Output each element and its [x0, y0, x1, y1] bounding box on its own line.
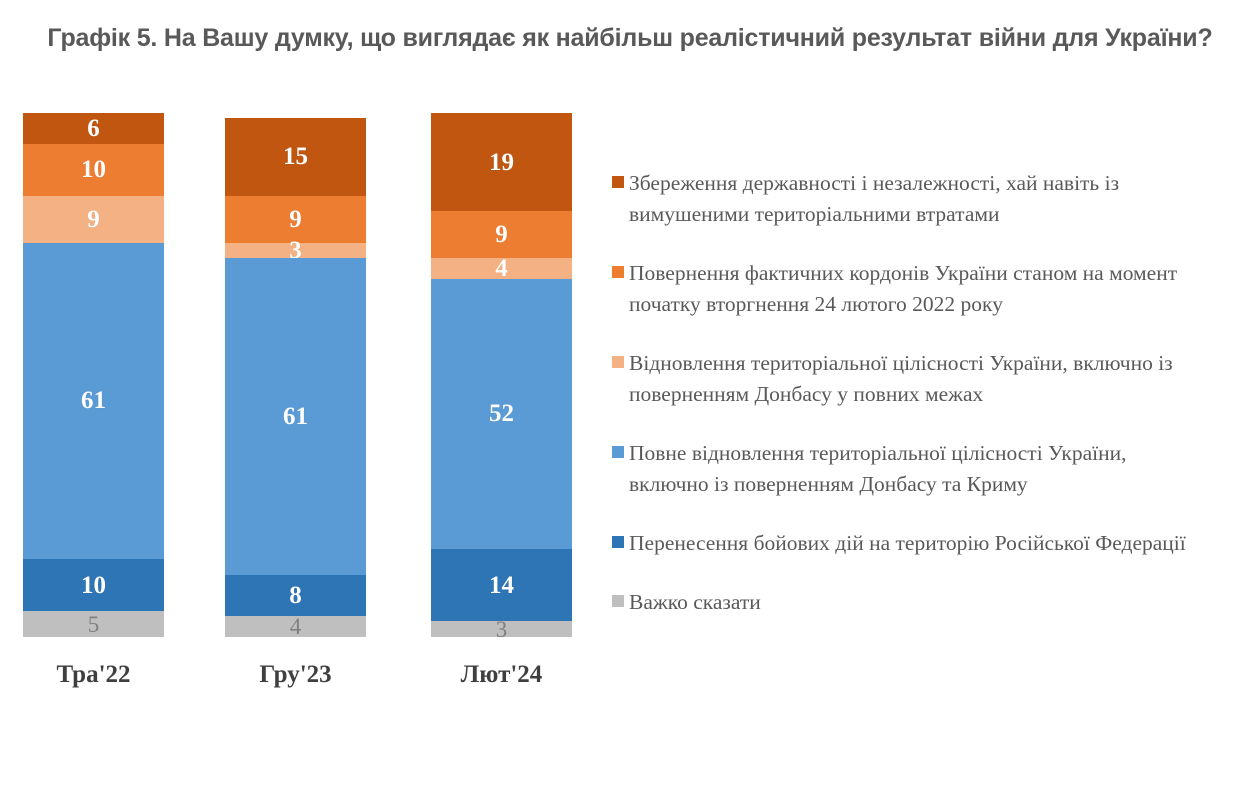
bar-segment: 9	[225, 196, 366, 243]
legend-item[interactable]: Збереження державності і незалежності, х…	[612, 168, 1232, 230]
bar-segment: 19	[431, 113, 572, 212]
bar-segment-value-label: 6	[87, 116, 100, 141]
legend-item-label: Перенесення бойових дій на територію Рос…	[629, 528, 1186, 559]
legend-swatch-icon	[612, 176, 624, 188]
stacked-bar-column: 610961105	[23, 113, 164, 637]
x-axis-tick-label: Лют'24	[431, 661, 572, 689]
chart-plot-area: 610961105 15936184 199452143 Тра'22 Гру'…	[0, 150, 600, 695]
bar-segment-value-label: 5	[88, 613, 100, 636]
bar-segment-value-label: 9	[87, 207, 100, 232]
legend-item[interactable]: Перенесення бойових дій на територію Рос…	[612, 528, 1232, 559]
legend-item-label: Повне відновлення територіальної цілісно…	[629, 438, 1204, 500]
legend-item[interactable]: Повне відновлення територіальної цілісно…	[612, 438, 1232, 500]
bar-segment: 9	[23, 196, 164, 243]
legend-item-label: Повернення фактичних кордонів України ст…	[629, 258, 1204, 320]
legend-swatch-icon	[612, 446, 624, 458]
legend-item[interactable]: Важко сказати	[612, 587, 1232, 618]
bar-segment: 61	[225, 258, 366, 575]
legend-item[interactable]: Повернення фактичних кордонів України ст…	[612, 258, 1232, 320]
bar-segment: 9	[431, 211, 572, 258]
bar-segment-value-label: 10	[81, 157, 106, 182]
bar-segment: 8	[225, 575, 366, 617]
bar-segment: 4	[431, 258, 572, 279]
bar-segment-value-label: 15	[283, 144, 308, 169]
bar-segment-value-label: 9	[495, 222, 508, 247]
bar-segment: 15	[225, 118, 366, 196]
bar-segment-value-label: 10	[81, 573, 106, 598]
stacked-bar-column: 199452143	[431, 113, 572, 637]
bar-segment-value-label: 4	[290, 615, 302, 638]
bar-segment-value-label: 61	[283, 404, 308, 429]
bar-segment: 4	[225, 616, 366, 637]
bar-segment: 10	[23, 144, 164, 196]
bar-segment-value-label: 19	[489, 150, 514, 175]
bar-segment: 5	[23, 611, 164, 637]
bar-segment-value-label: 8	[289, 583, 302, 608]
bar-segment: 14	[431, 549, 572, 622]
stacked-bar-column: 15936184	[225, 118, 366, 637]
legend-swatch-icon	[612, 536, 624, 548]
legend-swatch-icon	[612, 266, 624, 278]
legend-item[interactable]: Відновлення територіальної цілісності Ук…	[612, 348, 1232, 410]
page-title: Графік 5. На Вашу думку, що виглядає як …	[30, 20, 1230, 56]
legend-item-label: Важко сказати	[629, 587, 761, 618]
bar-segment-value-label: 4	[495, 256, 508, 281]
bar-segment-value-label: 9	[289, 207, 302, 232]
bar-segment: 6	[23, 113, 164, 144]
bar-segment: 52	[431, 279, 572, 549]
bar-segment: 10	[23, 559, 164, 611]
legend-swatch-icon	[612, 595, 624, 607]
legend-item-label: Відновлення територіальної цілісності Ук…	[629, 348, 1204, 410]
bar-segment: 3	[225, 243, 366, 259]
legend-swatch-icon	[612, 356, 624, 368]
x-axis-tick-label: Тра'22	[23, 661, 164, 689]
x-axis-tick-label: Гру'23	[225, 661, 366, 689]
bar-segment-value-label: 14	[489, 573, 514, 598]
bar-segment-value-label: 52	[489, 401, 514, 426]
bar-segment-value-label: 61	[81, 388, 106, 413]
bar-segment-value-label: 3	[496, 618, 508, 641]
bar-segment: 61	[23, 243, 164, 560]
legend-item-label: Збереження державності і незалежності, х…	[629, 168, 1204, 230]
bar-segment: 3	[431, 621, 572, 637]
chart-legend: Збереження державності і незалежності, х…	[612, 168, 1232, 646]
